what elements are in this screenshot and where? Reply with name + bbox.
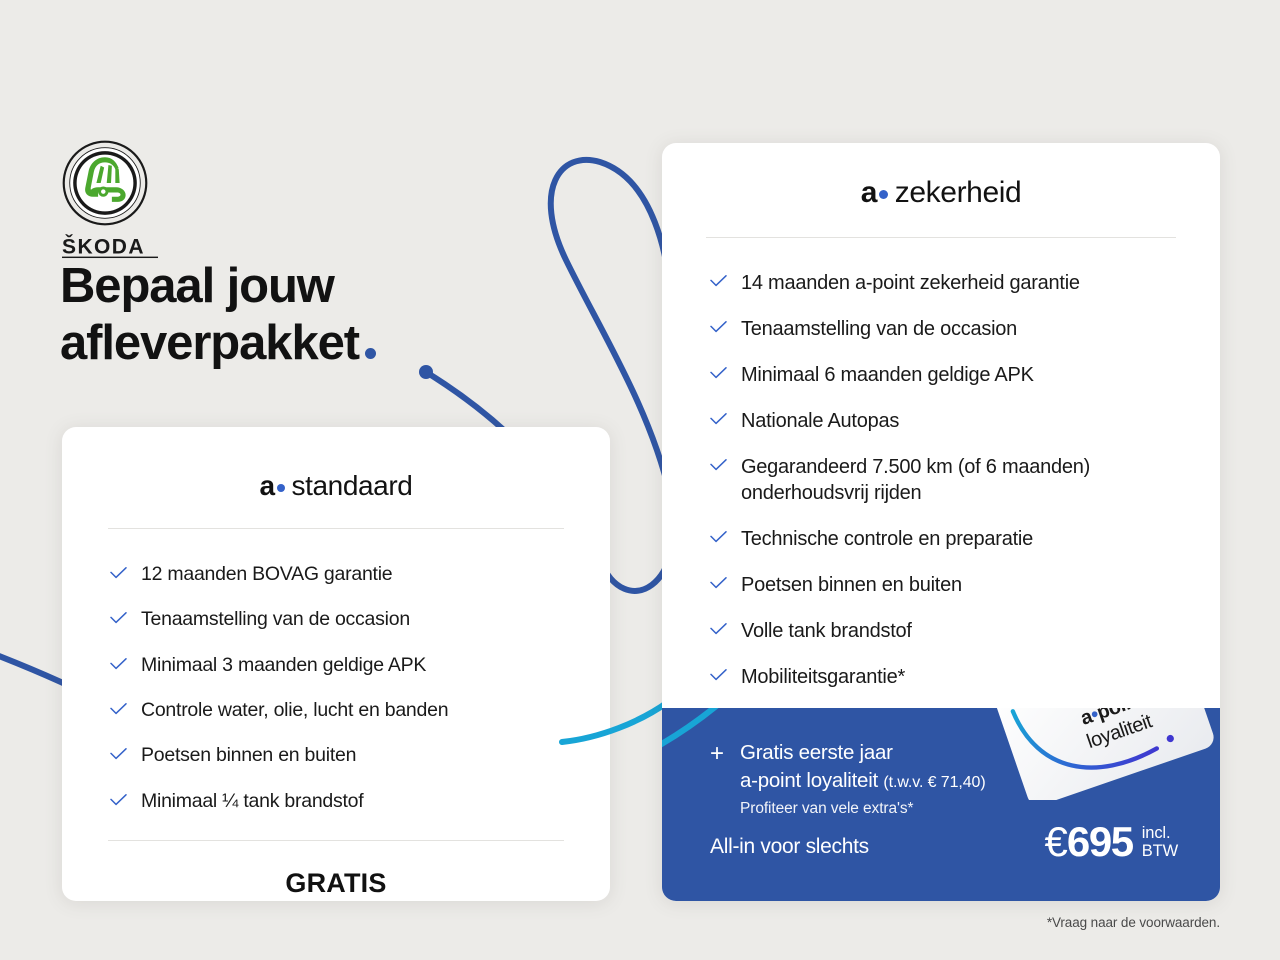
zekerheid-price-footer: a•point loyaliteit + Gratis eerste jaar … <box>662 708 1220 901</box>
list-item: Controle water, olie, lucht en banden <box>110 698 610 723</box>
list-item: Minimaal 6 maanden geldige APK <box>710 362 1220 388</box>
brand-block: ŠKODA <box>62 140 158 260</box>
check-icon <box>110 703 127 715</box>
title-dot <box>365 348 376 359</box>
list-item-label: Tenaamstelling van de occasion <box>141 607 610 632</box>
list-item: Volle tank brandstof <box>710 618 1220 644</box>
card-zekerheid: azekerheid 14 maanden a-point zekerheid … <box>662 143 1220 901</box>
divider-bottom <box>108 840 564 841</box>
page-title: Bepaal jouw afleverpakket <box>60 258 376 373</box>
list-item-label: Minimaal 3 maanden geldige APK <box>141 653 610 678</box>
check-icon <box>110 612 127 624</box>
list-item: Nationale Autopas <box>710 408 1220 434</box>
card-zekerheid-title: azekerheid <box>662 143 1220 210</box>
check-icon <box>710 321 727 333</box>
standaard-feature-list: 12 maanden BOVAG garantie Tenaamstelling… <box>62 529 610 814</box>
skoda-wordmark: ŠKODA <box>62 232 158 260</box>
check-icon <box>710 413 727 425</box>
a-point-brandmark: a <box>260 470 292 501</box>
list-item: 14 maanden a-point zekerheid garantie <box>710 270 1220 296</box>
list-item-label: Mobiliteitsgarantie* <box>741 664 1220 690</box>
list-item-label: Technische controle en preparatie <box>741 526 1220 552</box>
a-point-brandmark: a <box>861 176 895 209</box>
price-amount: 695 <box>1067 818 1133 865</box>
list-item-label: Nationale Autopas <box>741 408 1220 434</box>
list-item-label: 12 maanden BOVAG garantie <box>141 562 610 587</box>
card-standaard-title: astandaard <box>62 427 610 502</box>
list-item: Mobiliteitsgarantie* <box>710 664 1220 690</box>
list-item-label: Controle water, olie, lucht en banden <box>141 698 610 723</box>
list-item: Minimaal ¼ tank brandstof <box>110 789 610 814</box>
loyalty-card-graphic: a•point loyaliteit <box>984 708 1220 800</box>
zekerheid-feature-list: 14 maanden a-point zekerheid garantie Te… <box>662 238 1220 690</box>
poster-stage: ŠKODA Bepaal jouw afleverpakket astandaa… <box>0 0 1280 960</box>
check-icon <box>710 577 727 589</box>
check-icon <box>110 748 127 760</box>
list-item: Gegarandeerd 7.500 km (of 6 maanden) ond… <box>710 454 1150 506</box>
offer-line-1: Gratis eerste jaar <box>740 739 986 767</box>
footnote: *Vraag naar de voorwaarden. <box>1047 915 1220 930</box>
check-icon <box>710 459 727 471</box>
list-item-label: 14 maanden a-point zekerheid garantie <box>741 270 1220 296</box>
list-item: Tenaamstelling van de occasion <box>110 607 610 632</box>
list-item: Poetsen binnen en buiten <box>710 572 1220 598</box>
offer-line-2: a-point loyaliteit (t.w.v. € 71,40) <box>740 767 986 795</box>
swoosh-dot <box>419 365 433 379</box>
offer-line-2-note: (t.w.v. € 71,40) <box>883 774 985 791</box>
check-icon <box>710 367 727 379</box>
price-group: €695 incl. BTW <box>1045 821 1178 863</box>
list-item: Tenaamstelling van de occasion <box>710 316 1220 342</box>
svg-text:loyaliteit: loyaliteit <box>1084 710 1156 753</box>
check-icon <box>110 794 127 806</box>
list-item-label: Tenaamstelling van de occasion <box>741 316 1220 342</box>
price-currency: € <box>1045 818 1067 865</box>
page-title-text: Bepaal jouw afleverpakket <box>60 259 359 370</box>
price-row: All-in voor slechts €695 incl. BTW <box>710 821 1178 863</box>
list-item-label: Minimaal ¼ tank brandstof <box>141 789 610 814</box>
offer-line-2-main: a-point loyaliteit <box>740 769 878 792</box>
brandmark-a: a <box>260 470 275 501</box>
brandmark-a: a <box>861 176 877 209</box>
standaard-price-label: GRATIS <box>62 868 610 899</box>
price-tax-note-line1: incl. <box>1142 824 1178 842</box>
card-standaard: astandaard 12 maanden BOVAG garantie Ten… <box>62 427 610 901</box>
svg-text:a•point: a•point <box>1078 708 1146 730</box>
card-standaard-title-text: standaard <box>292 470 413 501</box>
card-zekerheid-title-text: zekerheid <box>895 176 1021 209</box>
list-item-label: Poetsen binnen en buiten <box>141 743 610 768</box>
svg-text:ŠKODA: ŠKODA <box>62 235 145 259</box>
skoda-logo <box>62 140 148 226</box>
price-value: €695 <box>1045 821 1133 863</box>
check-icon <box>710 669 727 681</box>
list-item: 12 maanden BOVAG garantie <box>110 562 610 587</box>
loyalty-offer-block: + Gratis eerste jaar a-point loyaliteit … <box>710 739 986 818</box>
list-item-label: Poetsen binnen en buiten <box>741 572 1220 598</box>
check-icon <box>710 531 727 543</box>
check-icon <box>110 567 127 579</box>
check-icon <box>710 275 727 287</box>
price-tax-note-line2: BTW <box>1142 842 1178 860</box>
offer-line-3: Profiteer van vele extra's* <box>740 800 986 818</box>
list-item-label: Minimaal 6 maanden geldige APK <box>741 362 1220 388</box>
list-item: Minimaal 3 maanden geldige APK <box>110 653 610 678</box>
brandmark-dot <box>277 484 285 492</box>
brandmark-dot <box>879 190 888 199</box>
list-item: Poetsen binnen en buiten <box>110 743 610 768</box>
list-item-label: Gegarandeerd 7.500 km (of 6 maanden) ond… <box>741 454 1150 506</box>
allin-label: All-in voor slechts <box>710 835 869 863</box>
check-icon <box>710 623 727 635</box>
list-item: Technische controle en preparatie <box>710 526 1220 552</box>
check-icon <box>110 658 127 670</box>
price-tax-note: incl. BTW <box>1142 824 1178 861</box>
plus-icon: + <box>710 742 724 818</box>
list-item-label: Volle tank brandstof <box>741 618 1220 644</box>
